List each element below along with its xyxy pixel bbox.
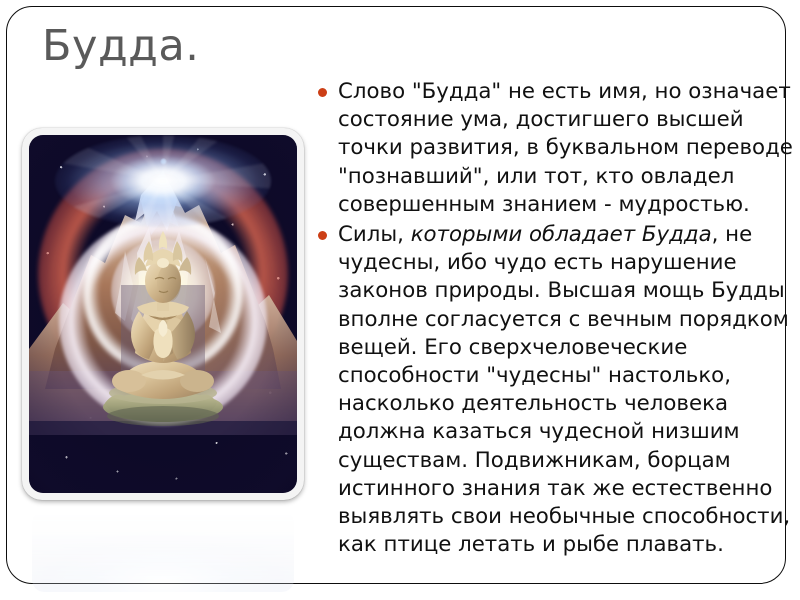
buddha-artwork-image: [29, 135, 297, 493]
bullet-dot-icon: [318, 88, 327, 97]
bullet-text-2-lead: Силы,: [338, 222, 411, 247]
bullet-text-2: Силы, которыми обладает Будда, не чудесн…: [338, 221, 794, 559]
bullet-text-2-rest: , не чудесны, ибо чудо есть нарушение за…: [338, 222, 790, 557]
list-item: Силы, которыми обладает Будда, не чудесн…: [312, 221, 794, 559]
bullet-dot-icon: [318, 231, 327, 240]
vignette-layer: [29, 135, 297, 493]
photo-reflection: [32, 510, 294, 592]
buddha-picture-block[interactable]: [22, 128, 304, 568]
presentation-slide: Будда.: [0, 0, 800, 600]
slide-body-text: Слово "Будда" не есть имя, но означает с…: [312, 78, 794, 561]
photo-frame[interactable]: [22, 128, 304, 500]
list-item: Слово "Будда" не есть имя, но означает с…: [312, 78, 794, 219]
page-title: Будда.: [42, 24, 342, 69]
bullet-text-1: Слово "Будда" не есть имя, но означает с…: [338, 78, 794, 219]
bullet-text-2-emphasis: которыми обладает Будда: [411, 222, 712, 247]
